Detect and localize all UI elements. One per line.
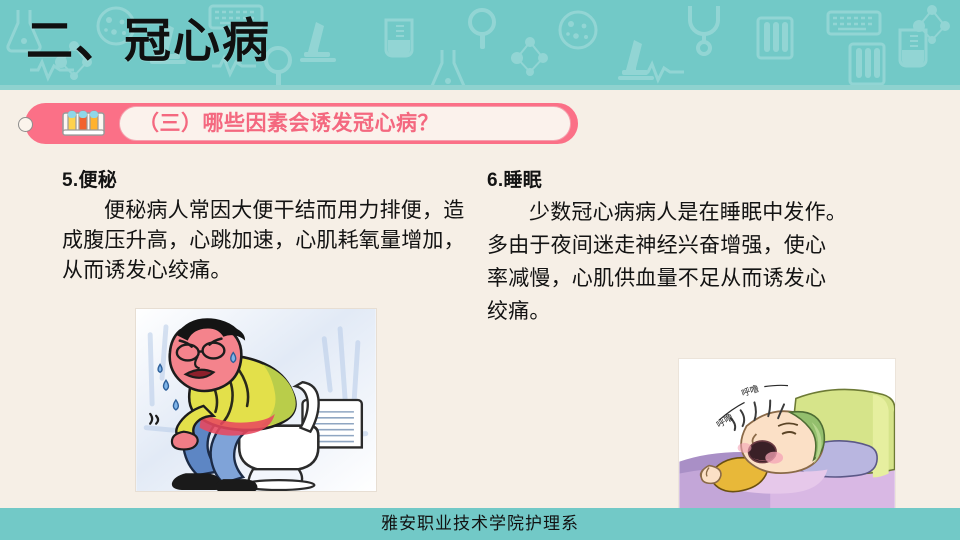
page-title: 二、冠心病 [26, 6, 271, 76]
slide-root: 二、冠心病 （三）哪些因素会诱发冠心病？ 5.便秘 便秘病人常因大便干结而用力排… [0, 0, 960, 540]
banner-bullet-dot [18, 117, 33, 132]
footer-label: 雅安职业技术学院护理系 [0, 508, 960, 540]
banner-label: （三）哪些因素会诱发冠心病？ [138, 103, 439, 144]
section-banner: （三）哪些因素会诱发冠心病？ [18, 103, 578, 144]
constipation-illustration-art [136, 309, 376, 491]
test-tube-rack-icon [60, 110, 107, 138]
snoring-illustration-art: 呼噜 呼噜 [679, 359, 895, 510]
snoring-illustration: 呼噜 呼噜 [678, 358, 896, 511]
constipation-illustration [135, 308, 377, 492]
section-heading-constipation: 5.便秘 [62, 168, 474, 194]
section-constipation: 5.便秘 便秘病人常因大便干结而用力排便，造成腹压升高，心跳加速，心肌耗氧量增加… [62, 168, 474, 286]
section-body-constipation: 便秘病人常因大便干结而用力排便，造成腹压升高，心跳加速，心肌耗氧量增加，从而诱发… [62, 196, 474, 286]
header-divider-secondary [0, 90, 960, 93]
section-body-sleep: 少数冠心病病人是在睡眠中发作。多由于夜间迷走神经兴奋增强，使心率减慢，心肌供血量… [487, 196, 847, 328]
section-heading-sleep: 6.睡眠 [487, 168, 847, 194]
section-sleep: 6.睡眠 少数冠心病病人是在睡眠中发作。多由于夜间迷走神经兴奋增强，使心率减慢，… [487, 168, 847, 328]
